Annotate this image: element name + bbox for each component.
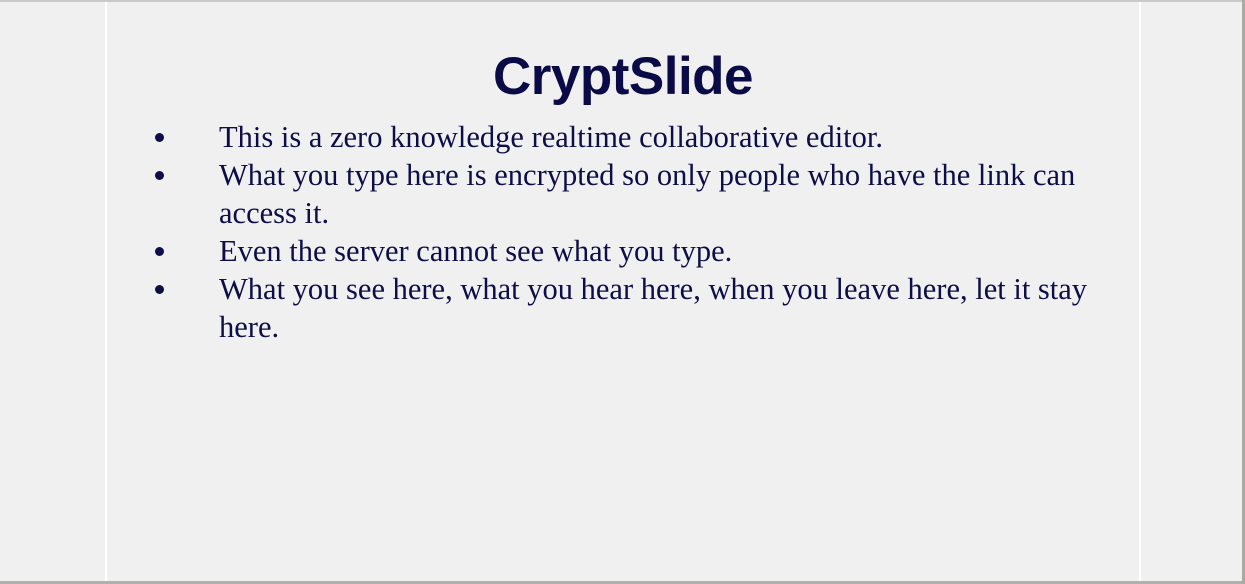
slide-canvas[interactable]: CryptSlide This is a zero knowledge real… (105, 0, 1141, 584)
bullet-dot-icon (155, 247, 164, 256)
slide-gutter-right (1141, 0, 1245, 584)
list-item[interactable]: What you see here, what you hear here, w… (147, 270, 1122, 346)
bullet-text[interactable]: This is a zero knowledge realtime collab… (219, 118, 1122, 156)
bullet-dot-icon (155, 171, 164, 180)
bullet-dot-icon (155, 285, 164, 294)
list-item[interactable]: What you type here is encrypted so only … (147, 156, 1122, 232)
slide-title[interactable]: CryptSlide (107, 46, 1139, 108)
list-item[interactable]: This is a zero knowledge realtime collab… (147, 118, 1122, 156)
window-top-divider (0, 0, 1245, 2)
list-item[interactable]: Even the server cannot see what you type… (147, 232, 1122, 270)
presentation-workspace: CryptSlide This is a zero knowledge real… (0, 0, 1245, 584)
slide-bullet-list[interactable]: This is a zero knowledge realtime collab… (147, 118, 1122, 346)
bullet-dot-icon (155, 133, 164, 142)
bullet-text[interactable]: Even the server cannot see what you type… (219, 232, 1122, 270)
slide-gutter-left (0, 0, 105, 584)
bullet-text[interactable]: What you see here, what you hear here, w… (219, 270, 1122, 346)
bullet-text[interactable]: What you type here is encrypted so only … (219, 156, 1122, 232)
